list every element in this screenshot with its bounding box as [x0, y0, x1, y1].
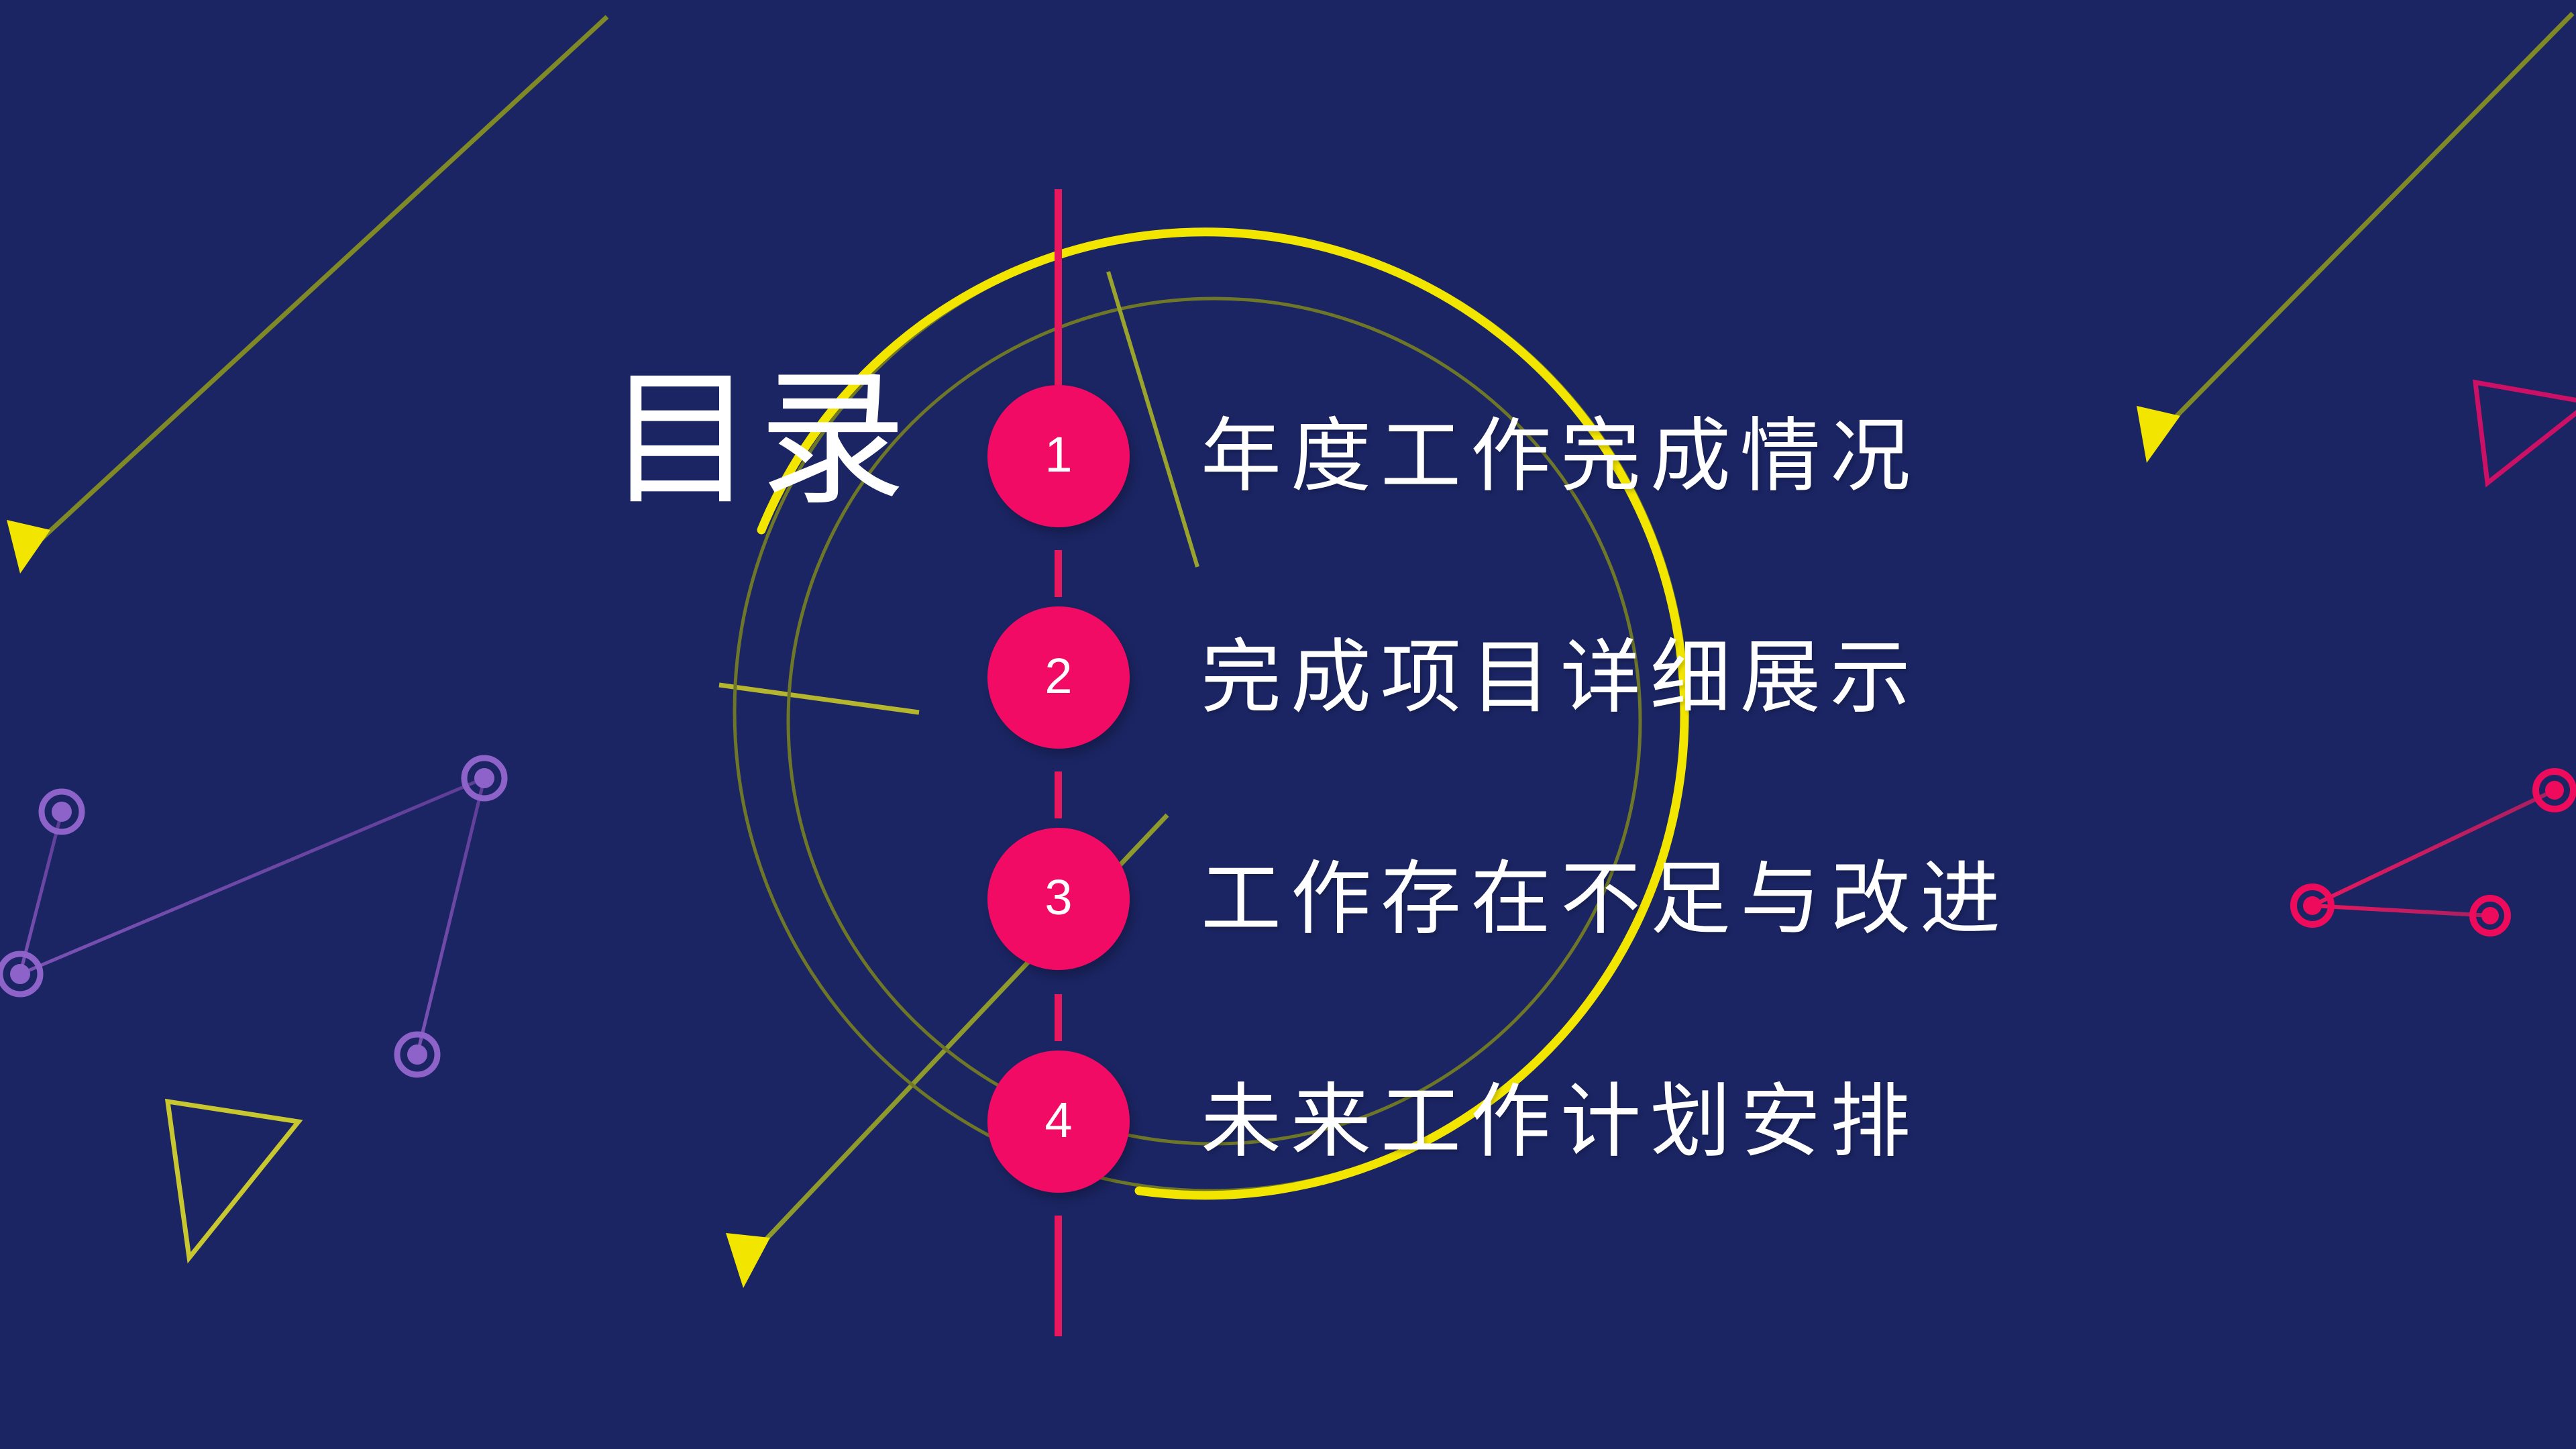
- toc-number-2: 2: [1044, 651, 1072, 701]
- toc-number-badge-2[interactable]: 2: [987, 606, 1130, 749]
- presentation-slide: 目录 1 年度工作完成情况 2 完成项目详细展示 3 工作存在不足与改进 4 未…: [0, 0, 2576, 1449]
- toc-list: 1 年度工作完成情况 2 完成项目详细展示 3 工作存在不足与改进 4 未来工作…: [0, 0, 2576, 1449]
- toc-item-4[interactable]: 4 未来工作计划安排: [987, 1051, 2396, 1193]
- toc-label-3: 工作存在不足与改进: [1201, 859, 2010, 939]
- toc-item-3[interactable]: 3 工作存在不足与改进: [987, 828, 2396, 970]
- toc-number-badge-4[interactable]: 4: [987, 1051, 1130, 1193]
- toc-label-4: 未来工作计划安排: [1201, 1081, 1920, 1162]
- toc-label-2: 完成项目详细展示: [1201, 637, 1920, 718]
- toc-item-2[interactable]: 2 完成项目详细展示: [987, 606, 2396, 749]
- toc-number-3: 3: [1044, 873, 1072, 922]
- toc-number-badge-1[interactable]: 1: [987, 385, 1130, 527]
- toc-item-1[interactable]: 1 年度工作完成情况: [987, 385, 2396, 527]
- toc-number-1: 1: [1044, 430, 1072, 480]
- toc-number-4: 4: [1044, 1095, 1072, 1145]
- toc-label-1: 年度工作完成情况: [1201, 416, 1920, 496]
- toc-number-badge-3[interactable]: 3: [987, 828, 1130, 970]
